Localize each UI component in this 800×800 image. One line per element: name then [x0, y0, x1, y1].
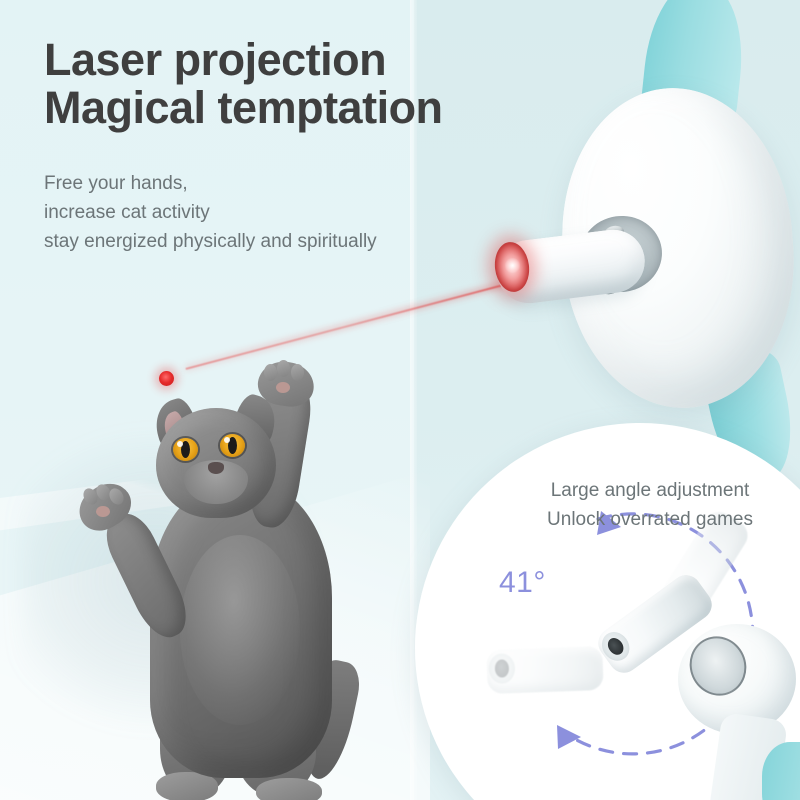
inset-caption-line-1: Large angle adjustment — [510, 477, 790, 506]
cat-paw-pad — [96, 506, 110, 517]
barrel-ghost-down — [486, 646, 603, 694]
cat-toe — [264, 364, 277, 381]
subtitle-block: Free your hands, increase cat activity s… — [44, 170, 514, 257]
cat-illustration — [60, 360, 390, 800]
cat-chest-highlight — [180, 535, 300, 725]
cat-toe — [277, 360, 290, 377]
subtitle-line-2: increase cat activity — [44, 199, 514, 228]
cat-eye-glint-right — [224, 437, 230, 443]
headline-line-1: Laser projection — [44, 36, 564, 84]
headline-line-2: Magical temptation — [44, 84, 564, 132]
inset-caption-line-2: Unlock overrated games — [510, 506, 790, 535]
subtitle-line-3: stay energized physically and spirituall… — [44, 228, 514, 257]
product-banner: Laser projection Magical temptation Free… — [0, 0, 800, 800]
page-title: Laser projection Magical temptation — [44, 36, 564, 131]
cat-paw-pad — [276, 382, 290, 393]
inset-caption: Large angle adjustment Unlock overrated … — [510, 477, 790, 534]
subtitle-line-1: Free your hands, — [44, 170, 514, 199]
angle-value-label: 41° — [499, 566, 546, 600]
cat-foot-right — [256, 778, 322, 800]
laser-emitter-spark — [504, 257, 521, 274]
cat-toe — [291, 364, 304, 381]
cat-eye-glint-left — [177, 441, 183, 447]
